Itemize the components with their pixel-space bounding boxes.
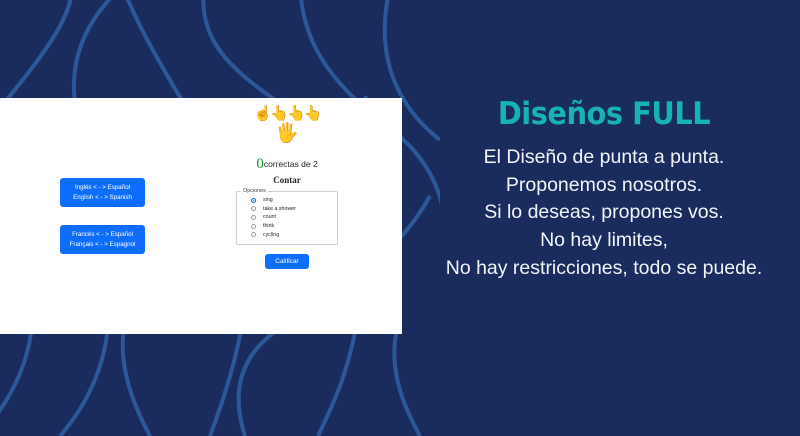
promo-tagline-line-5: No hay restricciones, todo se puede. [410,255,798,283]
options-legend: Opciones [241,188,268,194]
radio-think[interactable] [251,224,256,229]
frances-espanol-button[interactable]: Francés < - > Español Français < - > Esp… [60,225,145,254]
promo-tagline: El Diseño de punta a punta. Proponemos n… [410,144,798,282]
app-screenshot-card: Inglés < - > Español English < - > Spani… [0,98,402,334]
option-label-count: count [263,214,276,220]
promo-panel: Diseños FULL El Diseño de punta a punta.… [410,96,798,282]
frances-espanol-line-1: Francés < - > Español [62,230,143,240]
option-row-take-a-shower[interactable]: take a shower [241,205,333,214]
radio-take-a-shower[interactable] [251,206,256,211]
language-button-group: Inglés < - > Español English < - > Spani… [60,178,145,272]
ingles-espanol-line-1: Inglés < - > Español [62,183,143,193]
ingles-espanol-line-2: English < - > Spanish [62,193,143,203]
quiz-title: Contar [232,175,342,185]
promo-tagline-line-1: El Diseño de punta a punta. [410,144,798,172]
option-row-cycling[interactable]: cycling [241,230,333,239]
promo-tagline-line-3: Si lo deseas, propones vos. [410,199,798,227]
option-row-think[interactable]: think [241,222,333,231]
promo-headline: Diseños FULL [424,96,785,132]
poster-canvas: Inglés < - > Español English < - > Spani… [0,0,800,436]
counting-hands-icon: ☝👆👆👆 🖐 [252,106,322,154]
open-hand-icon: 🖐 [252,124,322,143]
option-label-think: think [263,223,274,229]
ingles-espanol-button[interactable]: Inglés < - > Español English < - > Spani… [60,178,145,207]
option-row-sing[interactable]: sing [241,196,333,205]
radio-sing[interactable] [251,198,256,203]
score-number: 0 [256,156,264,172]
score-line: 0correctas de 2 [232,156,342,173]
promo-tagline-line-4: No hay limites, [410,227,798,255]
promo-tagline-line-2: Proponemos nosotros. [410,172,798,200]
option-row-count[interactable]: count [241,213,333,222]
option-label-cycling: cycling [263,232,279,238]
calificar-button[interactable]: Calificar [265,254,308,269]
radio-count[interactable] [251,215,256,220]
option-label-sing: sing [263,197,273,203]
option-label-take-a-shower: take a shower [263,206,296,212]
score-text: correctas de 2 [264,159,318,169]
radio-cycling[interactable] [251,232,256,237]
quiz-panel: ☝👆👆👆 🖐 0correctas de 2 Contar Opciones s… [232,106,342,269]
frances-espanol-line-2: Français < - > Espagnol [62,240,143,250]
options-fieldset: Opciones sing take a shower count think [236,188,338,245]
